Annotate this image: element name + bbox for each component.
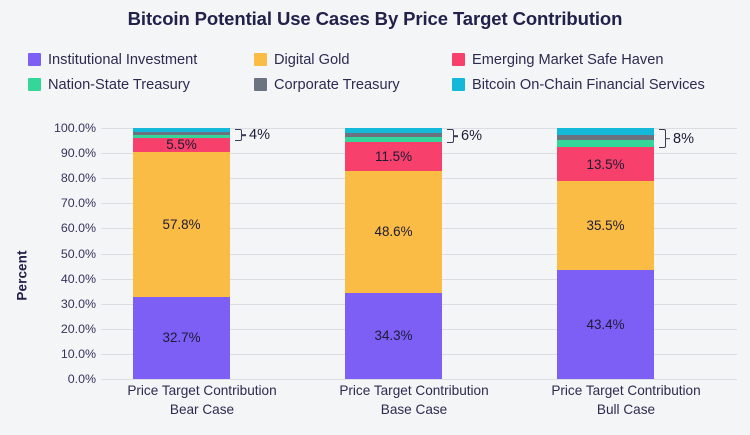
bracket-annotation-label: 8%	[673, 131, 694, 147]
x-axis-category-label: Price Target ContributionBull Case	[525, 381, 737, 419]
x-label-line-primary: Price Target Contribution	[525, 381, 727, 400]
chart-legend: Institutional InvestmentDigital GoldEmer…	[28, 47, 744, 97]
bar-segment-label: 57.8%	[163, 217, 201, 232]
x-label-line-primary: Price Target Contribution	[101, 381, 303, 400]
bar-segment-label: 13.5%	[587, 157, 625, 172]
y-axis-tick-label: 20.0%	[61, 322, 96, 336]
bar-segment[interactable]: 13.5%	[557, 147, 654, 181]
bar-segment-label: 48.6%	[375, 224, 413, 239]
x-label-line-secondary: Bull Case	[525, 400, 727, 419]
legend-swatch-icon	[254, 53, 267, 66]
y-axis-tick-label: 60.0%	[61, 221, 96, 235]
bracket-annotation: 4%	[235, 129, 270, 141]
bar-segment[interactable]	[557, 135, 654, 140]
legend-swatch-icon	[452, 53, 465, 66]
bar-segment[interactable]: 34.3%	[345, 293, 442, 379]
bar-segment[interactable]	[133, 132, 230, 135]
bar-segment[interactable]: 11.5%	[345, 142, 442, 171]
legend-item-label: Bitcoin On-Chain Financial Services	[472, 77, 705, 93]
bar-segment[interactable]	[345, 137, 442, 143]
bar-segment[interactable]	[133, 135, 230, 139]
y-axis-tick-label: 100.0%	[54, 121, 96, 135]
y-axis-title: Percent	[15, 216, 30, 336]
y-axis-tick-label: 70.0%	[61, 196, 96, 210]
x-label-line-secondary: Bear Case	[101, 400, 303, 419]
bar-segment[interactable]: 32.7%	[133, 297, 230, 379]
legend-item-label: Institutional Investment	[48, 52, 197, 68]
bar-slot: 32.7%57.8%5.5%4%	[101, 128, 313, 379]
legend-item[interactable]: Bitcoin On-Chain Financial Services	[452, 77, 744, 93]
bar-segment-label: 11.5%	[375, 149, 412, 164]
bar-slot: 43.4%35.5%13.5%8%	[525, 128, 737, 379]
y-axis-tick-label: 50.0%	[61, 247, 96, 261]
bar-segment[interactable]	[557, 128, 654, 135]
legend-swatch-icon	[28, 53, 41, 66]
bracket-annotation-label: 6%	[461, 128, 482, 144]
stacked-bar[interactable]: 34.3%48.6%11.5%	[345, 128, 442, 379]
y-axis-tick-label: 90.0%	[61, 146, 96, 160]
bar-group: 32.7%57.8%5.5%4%34.3%48.6%11.5%6%43.4%35…	[101, 128, 737, 379]
legend-swatch-icon	[28, 78, 41, 91]
bar-segment[interactable]	[557, 140, 654, 147]
bar-segment-label: 5.5%	[166, 137, 197, 152]
bar-segment[interactable]: 35.5%	[557, 181, 654, 270]
bar-segment[interactable]	[345, 128, 442, 133]
legend-item-label: Digital Gold	[274, 52, 349, 68]
bar-segment-label: 35.5%	[587, 218, 625, 233]
x-axis-category-label: Price Target ContributionBear Case	[101, 381, 313, 419]
y-axis-tick-label: 40.0%	[61, 272, 96, 286]
plot-canvas: 32.7%57.8%5.5%4%34.3%48.6%11.5%6%43.4%35…	[101, 128, 737, 379]
gridline	[101, 379, 737, 380]
bar-segment-label: 43.4%	[587, 317, 625, 332]
x-axis-category-label: Price Target ContributionBase Case	[313, 381, 525, 419]
bar-slot: 34.3%48.6%11.5%6%	[313, 128, 525, 379]
bar-segment[interactable]: 5.5%	[133, 138, 230, 152]
legend-swatch-icon	[254, 78, 267, 91]
bracket-glyph-icon	[447, 129, 454, 143]
legend-item[interactable]: Emerging Market Safe Haven	[452, 52, 744, 68]
chart-title: Bitcoin Potential Use Cases By Price Tar…	[0, 8, 750, 30]
bar-segment[interactable]	[133, 128, 230, 132]
y-axis-tick-label: 30.0%	[61, 297, 96, 311]
stacked-bar[interactable]: 32.7%57.8%5.5%	[133, 128, 230, 379]
legend-swatch-icon	[452, 78, 465, 91]
bar-segment[interactable]	[345, 133, 442, 137]
stacked-bar[interactable]: 43.4%35.5%13.5%	[557, 128, 654, 379]
x-label-line-secondary: Base Case	[313, 400, 515, 419]
legend-item-label: Nation-State Treasury	[48, 77, 190, 93]
bar-segment-label: 32.7%	[163, 330, 201, 345]
bracket-glyph-icon	[659, 129, 666, 148]
y-axis-tick-label: 80.0%	[61, 171, 96, 185]
x-axis-labels: Price Target ContributionBear CasePrice …	[101, 381, 737, 419]
chart-container: Bitcoin Potential Use Cases By Price Tar…	[0, 0, 750, 435]
y-axis-tick-label: 10.0%	[61, 347, 96, 361]
y-axis-tick-label: 0.0%	[68, 372, 96, 386]
legend-item-label: Emerging Market Safe Haven	[472, 52, 663, 68]
bracket-annotation-label: 4%	[249, 127, 270, 143]
legend-item-label: Corporate Treasury	[274, 77, 400, 93]
bracket-annotation: 6%	[447, 129, 482, 143]
bar-segment[interactable]: 43.4%	[557, 270, 654, 379]
legend-item[interactable]: Nation-State Treasury	[28, 77, 254, 93]
legend-item[interactable]: Institutional Investment	[28, 52, 254, 68]
bar-segment[interactable]: 48.6%	[345, 171, 442, 293]
bracket-glyph-icon	[235, 129, 242, 141]
legend-item[interactable]: Digital Gold	[254, 52, 452, 68]
bar-segment-label: 34.3%	[375, 328, 413, 343]
bar-segment[interactable]: 57.8%	[133, 152, 230, 297]
plot-area: Percent 100.0%90.0%80.0%70.0%60.0%50.0%4…	[0, 104, 750, 435]
legend-item[interactable]: Corporate Treasury	[254, 77, 452, 93]
y-axis-ticks: 100.0%90.0%80.0%70.0%60.0%50.0%40.0%30.0…	[40, 128, 96, 379]
x-label-line-primary: Price Target Contribution	[313, 381, 515, 400]
bracket-annotation: 8%	[659, 129, 694, 148]
